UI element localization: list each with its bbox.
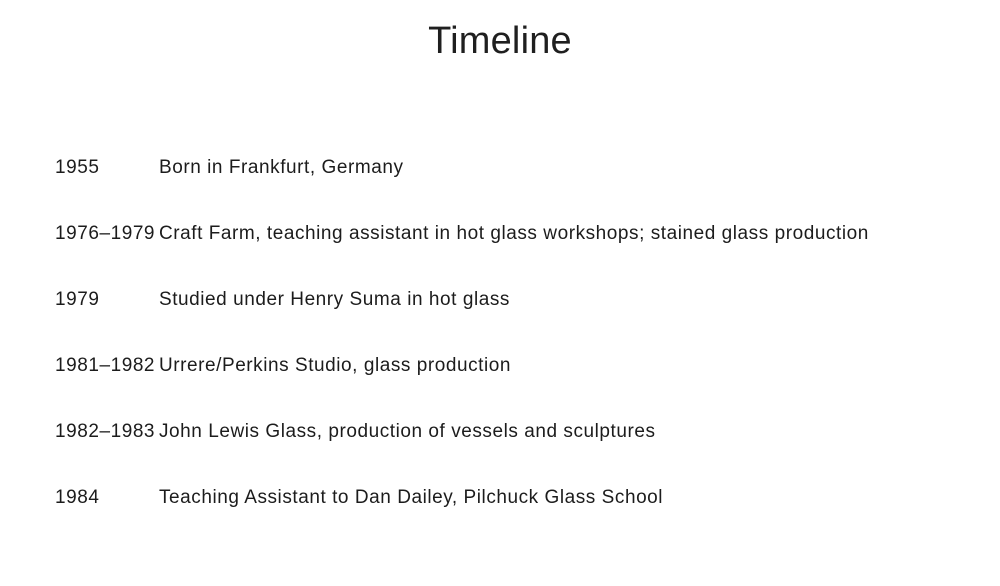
timeline-row: 1984 Teaching Assistant to Dan Dailey, P… <box>0 482 1000 513</box>
timeline-row-date: 1955 <box>0 152 159 183</box>
page-title: Timeline <box>0 17 1000 65</box>
timeline-row-date: 1982–1983 <box>0 416 159 447</box>
timeline-row-date: 1984 <box>0 482 159 513</box>
timeline-row: 1955 Born in Frankfurt, Germany <box>0 152 1000 183</box>
timeline-row-date: 1979 <box>0 284 159 315</box>
timeline-row: 1976–1979 Craft Farm, teaching assistant… <box>0 218 1000 249</box>
timeline-row-description: Craft Farm, teaching assistant in hot gl… <box>159 218 1000 249</box>
timeline-row-date: 1976–1979 <box>0 218 159 249</box>
timeline-row: 1982–1983 John Lewis Glass, production o… <box>0 416 1000 447</box>
timeline-row-description: Studied under Henry Suma in hot glass <box>159 284 1000 315</box>
timeline-row-description: John Lewis Glass, production of vessels … <box>159 416 1000 447</box>
timeline-row: 1979 Studied under Henry Suma in hot gla… <box>0 284 1000 315</box>
timeline-list: 1955 Born in Frankfurt, Germany 1976–197… <box>0 152 1000 548</box>
timeline-row-description: Born in Frankfurt, Germany <box>159 152 1000 183</box>
timeline-row-date: 1981–1982 <box>0 350 159 381</box>
timeline-row-description: Urrere/Perkins Studio, glass production <box>159 350 1000 381</box>
timeline-row-description: Teaching Assistant to Dan Dailey, Pilchu… <box>159 482 1000 513</box>
document-page: Timeline 1955 Born in Frankfurt, Germany… <box>0 0 1000 586</box>
timeline-row: 1981–1982 Urrere/Perkins Studio, glass p… <box>0 350 1000 381</box>
